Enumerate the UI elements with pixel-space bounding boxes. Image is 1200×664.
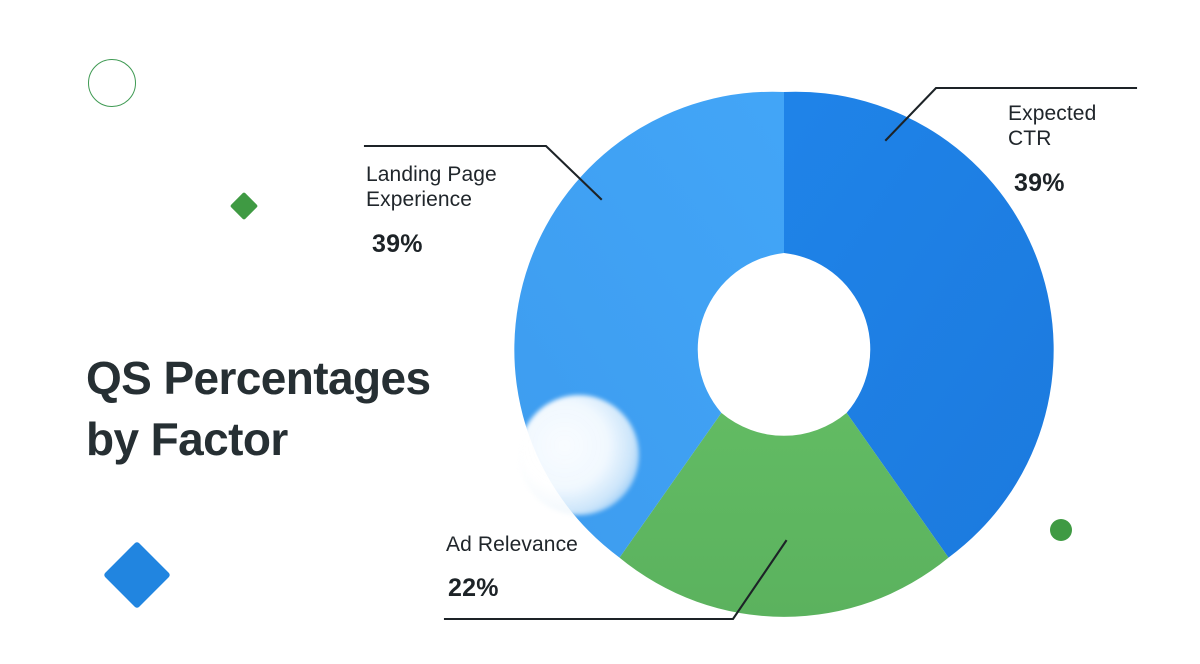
decorative-solid-dot <box>1050 519 1072 541</box>
decorative-ring-outline-circle <box>88 59 136 107</box>
callout-label-landing-page-experience: Landing Page Experience <box>366 163 497 213</box>
donut-slice-ad-relevance[interactable] <box>620 413 949 617</box>
donut-chart <box>0 0 1200 664</box>
decorative-large-diamond-icon <box>103 541 171 609</box>
callout-ad-relevance: Ad Relevance 22% <box>446 533 578 603</box>
callout-value-ad-relevance: 22% <box>448 574 578 603</box>
decorative-small-diamond-icon <box>230 192 258 220</box>
callout-leader-lines <box>0 0 1200 664</box>
page-title: QS Percentages by Factor <box>86 348 516 469</box>
callout-value-landing-page-experience: 39% <box>372 230 497 259</box>
decorative-soft-glow <box>519 395 639 515</box>
chart-canvas: QS Percentages by Factor <box>0 0 1200 664</box>
callout-landing-page-experience: Landing Page Experience 39% <box>366 163 497 259</box>
callout-label-expected-ctr: Expected CTR <box>1008 102 1096 152</box>
callout-expected-ctr: Expected CTR 39% <box>1008 102 1096 198</box>
callout-label-ad-relevance: Ad Relevance <box>446 533 578 558</box>
callout-value-expected-ctr: 39% <box>1014 169 1096 198</box>
